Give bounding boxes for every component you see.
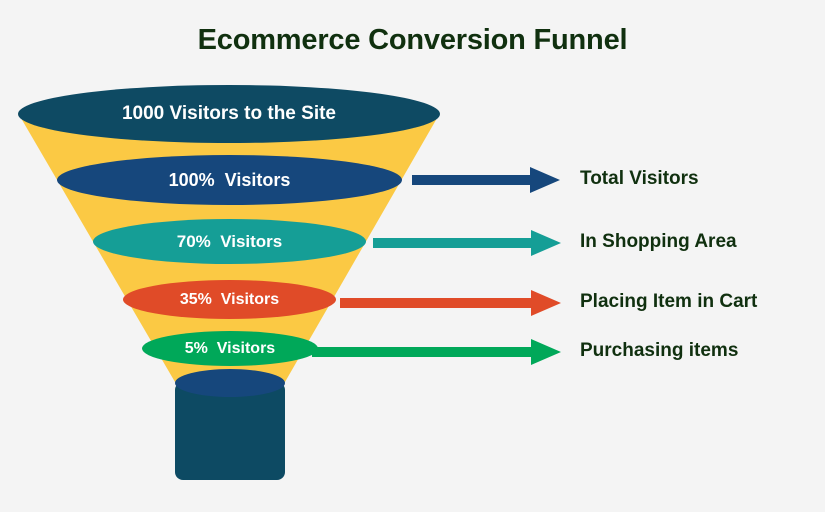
funnel-layer-shopping-area[interactable]: 70% Visitors [93,219,366,264]
funnel-layer-total-visitors[interactable]: 100% Visitors [57,155,402,205]
funnel-infographic: Ecommerce Conversion Funnel 1000 Visitor… [0,0,825,512]
stage-arrow-total-visitors [412,165,560,195]
funnel-layer-label: 70% Visitors [177,232,283,252]
funnel-layer-visitors-to-site[interactable]: 1000 Visitors to the Site [18,85,440,143]
funnel-stem-top [175,369,285,397]
stage-label-placing-item-in-cart: Placing Item in Cart [580,291,757,313]
funnel-layer-label: 35% Visitors [180,291,279,309]
funnel-layer-item-in-cart[interactable]: 35% Visitors [123,280,336,319]
funnel-layer-label: 100% Visitors [169,170,291,191]
stage-label-purchasing-items: Purchasing items [580,340,738,362]
stage-arrow-placing-item-in-cart [340,288,561,318]
stage-label-total-visitors: Total Visitors [580,168,699,190]
funnel-layer-label: 5% Visitors [185,340,275,358]
stage-arrow-purchasing-items [312,337,561,367]
stage-arrow-in-shopping-area [373,228,561,258]
funnel-layer-purchasing[interactable]: 5% Visitors [142,331,318,366]
stage-label-in-shopping-area: In Shopping Area [580,231,737,253]
funnel-layer-label: 1000 Visitors to the Site [122,103,336,125]
